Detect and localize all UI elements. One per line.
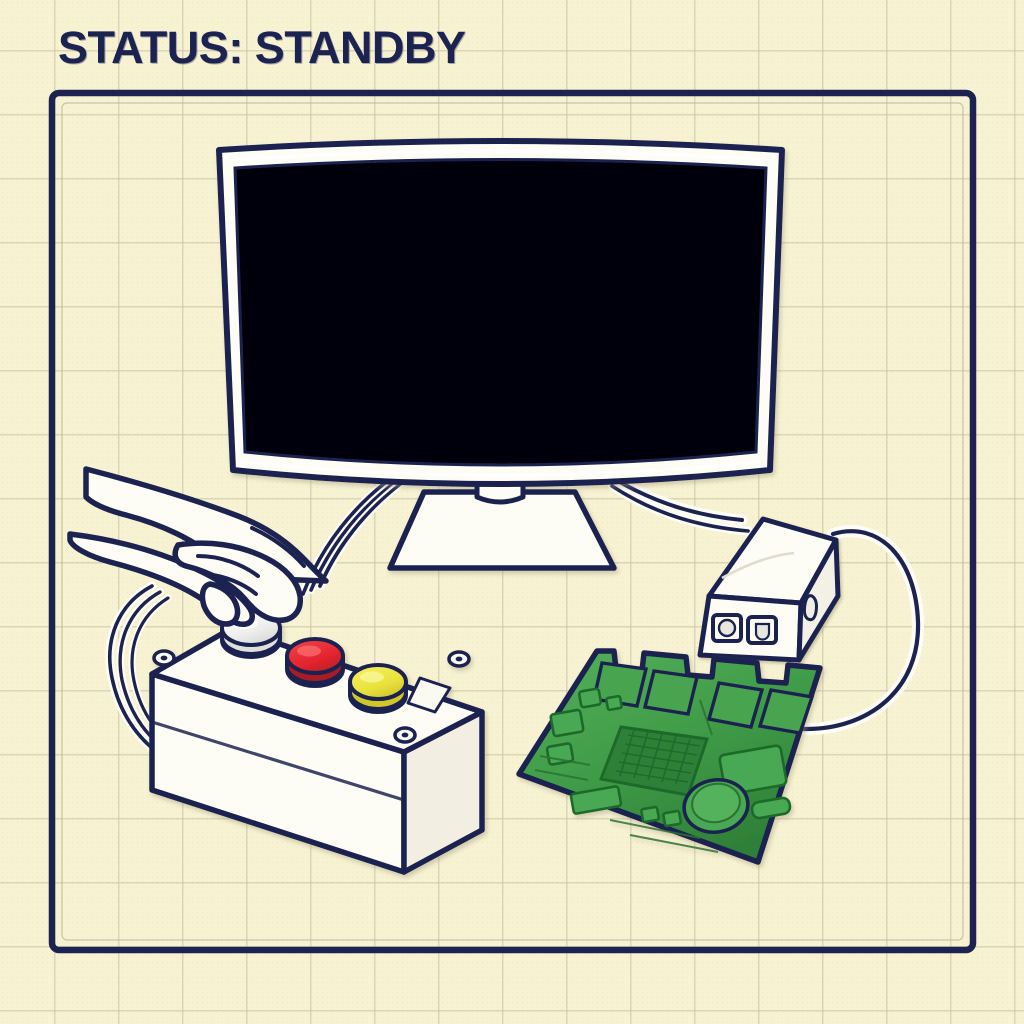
- monitor-screen: [235, 160, 766, 466]
- yellow-button[interactable]: [350, 665, 406, 712]
- control-button-box[interactable]: [152, 611, 482, 872]
- sketch-scene: STATUS: STANDBY: [0, 0, 1024, 1024]
- single-board-computer[interactable]: [519, 651, 820, 862]
- illustration-canvas: [0, 0, 1024, 1024]
- computer-monitor[interactable]: [219, 141, 782, 568]
- power-adapter-box[interactable]: [700, 519, 838, 660]
- red-button[interactable]: [287, 639, 343, 686]
- adapter-side-slot: [804, 596, 816, 620]
- human-hand: [70, 469, 326, 624]
